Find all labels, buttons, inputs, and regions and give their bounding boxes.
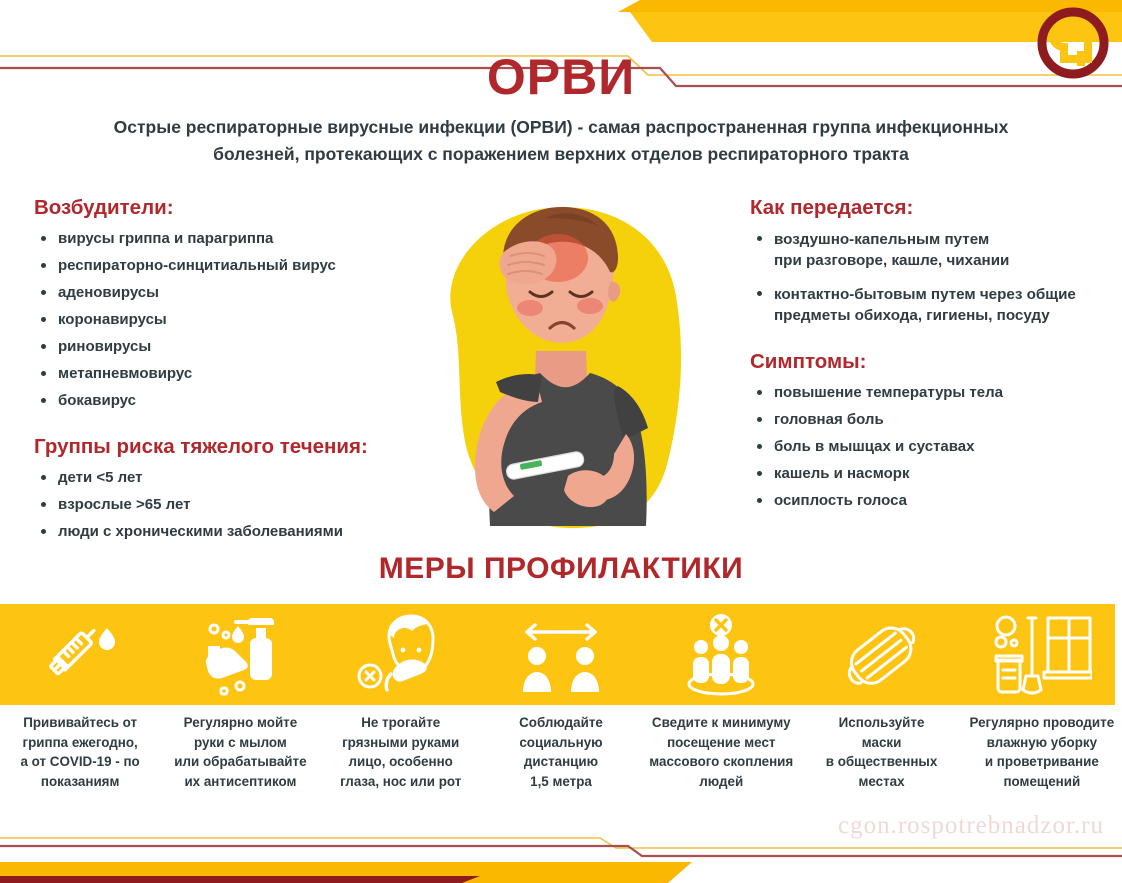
bullet-icon — [757, 444, 762, 449]
list-item-label: коронавирусы — [58, 311, 167, 328]
no-crowd-icon — [641, 604, 801, 705]
list-item: дети <5 лет — [34, 468, 424, 488]
list-item: боль в мышцах и суставах — [750, 437, 1110, 457]
prevention-caption: Сведите к минимумупосещение местмассовог… — [641, 713, 801, 791]
list-item-label: риновирусы — [58, 338, 151, 355]
bullet-icon — [41, 529, 46, 534]
bullet-icon — [41, 475, 46, 480]
subtitle-line-1: Острые респираторные вирусные инфекции (… — [114, 117, 1009, 137]
list-item-label: бокавирус — [58, 392, 136, 409]
syringe-icon — [0, 604, 160, 705]
right-column: Как передается: воздушно-капельным путем… — [750, 196, 1110, 518]
bullet-icon — [41, 317, 46, 322]
list-item-label: метапневмовирус — [58, 365, 192, 382]
list-item-label: взрослые >65 лет — [58, 496, 190, 513]
list-item-label: вирусы гриппа и парагриппа — [58, 230, 273, 247]
list-item-label: люди с хроническими заболеваниями — [58, 523, 343, 540]
bottom-gold-band — [0, 862, 692, 883]
list-item: контактно-бытовым путем через общие пред… — [750, 284, 1110, 326]
list-item-label-line1: контактно-бытовым путем через общие — [774, 284, 1110, 305]
bullet-icon — [757, 390, 762, 395]
face-mask-icon — [801, 604, 961, 705]
list-item-label-line2: предметы обихода, гигиены, посуду — [774, 305, 1110, 326]
bullet-icon — [757, 291, 762, 296]
watermark: cgon.rospotrebnadzor.ru — [838, 812, 1104, 840]
prevention-caption: Регулярно проводитевлажную уборкуи прове… — [962, 713, 1122, 791]
bottom-dark-red-band — [0, 876, 480, 883]
risk-groups-list: дети <5 лет взрослые >65 лет люди с хрон… — [34, 468, 424, 542]
list-item: кашель и насморк — [750, 464, 1110, 484]
bullet-icon — [757, 417, 762, 422]
left-column: Возбудители: вирусы гриппа и парагриппа … — [34, 196, 424, 549]
sick-boy-with-thermometer-illustration — [418, 196, 728, 541]
bottom-thin-red-line — [0, 846, 1122, 856]
bullet-icon — [41, 502, 46, 507]
list-item: осиплость голоса — [750, 491, 1110, 511]
prevention-caption: Регулярно мойтеруки с мыломили обрабатыв… — [160, 713, 320, 791]
list-item: коронавирусы — [34, 310, 424, 330]
bullet-icon — [757, 236, 762, 241]
prevention-caption: Прививайтесь отгриппа ежегодно,а от COVI… — [0, 713, 160, 791]
handwash-soap-icon — [160, 604, 320, 705]
list-item: головная боль — [750, 410, 1110, 430]
subtitle-line-2: болезней, протекающих с поражением верхн… — [213, 144, 909, 164]
cheek-right — [577, 298, 603, 314]
social-distance-icon — [481, 604, 641, 705]
list-item: метапневмовирус — [34, 364, 424, 384]
list-item: воздушно-капельным путем при разговоре, … — [750, 229, 1110, 271]
bullet-icon — [41, 398, 46, 403]
prevention-caption: Используйтемаскив общественныхместах — [801, 713, 961, 791]
list-item: взрослые >65 лет — [34, 495, 424, 515]
list-item: люди с хроническими заболеваниями — [34, 522, 424, 542]
list-item-label: повышение температуры тела — [774, 384, 1003, 401]
list-item-label: кашель и насморк — [774, 465, 909, 482]
symptoms-heading: Симптомы: — [750, 350, 1110, 374]
transmission-heading: Как передается: — [750, 196, 1110, 220]
list-item: риновирусы — [34, 337, 424, 357]
pathogens-heading: Возбудители: — [34, 196, 424, 220]
bullet-icon — [41, 263, 46, 268]
list-item: вирусы гриппа и парагриппа — [34, 229, 424, 249]
list-item: аденовирусы — [34, 283, 424, 303]
list-item: повышение температуры тела — [750, 383, 1110, 403]
rospotrebnadzor-logo — [1036, 6, 1110, 80]
pathogens-list: вирусы гриппа и парагриппа респираторно-… — [34, 229, 424, 411]
list-item-label: респираторно-синцитиальный вирус — [58, 257, 336, 274]
list-item-label: боль в мышцах и суставах — [774, 438, 974, 455]
page-title: ОРВИ — [0, 42, 1122, 106]
list-item-label-line1: воздушно-капельным путем — [774, 229, 1110, 250]
prevention-icons-row — [0, 604, 1122, 705]
poster-root: ОРВИ Острые респираторные вирусные инфек… — [0, 0, 1122, 883]
cleaning-window-icon — [962, 604, 1122, 705]
list-item: бокавирус — [34, 391, 424, 411]
header: ОРВИ Острые респираторные вирусные инфек… — [0, 42, 1122, 168]
list-item-label: головная боль — [774, 411, 884, 428]
prevention-caption: Соблюдайтесоциальнуюдистанцию1,5 метра — [481, 713, 641, 791]
page-subtitle: Острые респираторные вирусные инфекции (… — [101, 114, 1021, 168]
bullet-icon — [41, 371, 46, 376]
bullet-icon — [757, 498, 762, 503]
bullet-icon — [41, 344, 46, 349]
list-item-label: осиплость голоса — [774, 492, 907, 509]
prevention-title: МЕРЫ ПРОФИЛАКТИКИ — [0, 552, 1122, 586]
list-item-label: аденовирусы — [58, 284, 159, 301]
risk-groups-heading: Группы риска тяжелого течения: — [34, 435, 424, 459]
prevention-caption: Не трогайтегрязными рукамилицо, особенно… — [321, 713, 481, 791]
main-content: Возбудители: вирусы гриппа и парагриппа … — [0, 196, 1122, 548]
bullet-icon — [757, 471, 762, 476]
cheek-left — [517, 300, 543, 316]
no-face-touch-icon — [321, 604, 481, 705]
symptoms-list: повышение температуры тела головная боль… — [750, 383, 1110, 511]
bullet-icon — [41, 290, 46, 295]
transmission-list: воздушно-капельным путем при разговоре, … — [750, 229, 1110, 326]
top-dark-red-band — [0, 0, 1122, 18]
list-item: респираторно-синцитиальный вирус — [34, 256, 424, 276]
list-item-label-line2: при разговоре, кашле, чихании — [774, 250, 1110, 271]
prevention-captions-row: Прививайтесь отгриппа ежегодно,а от COVI… — [0, 713, 1122, 791]
bullet-icon — [41, 236, 46, 241]
list-item-label: дети <5 лет — [58, 469, 143, 486]
